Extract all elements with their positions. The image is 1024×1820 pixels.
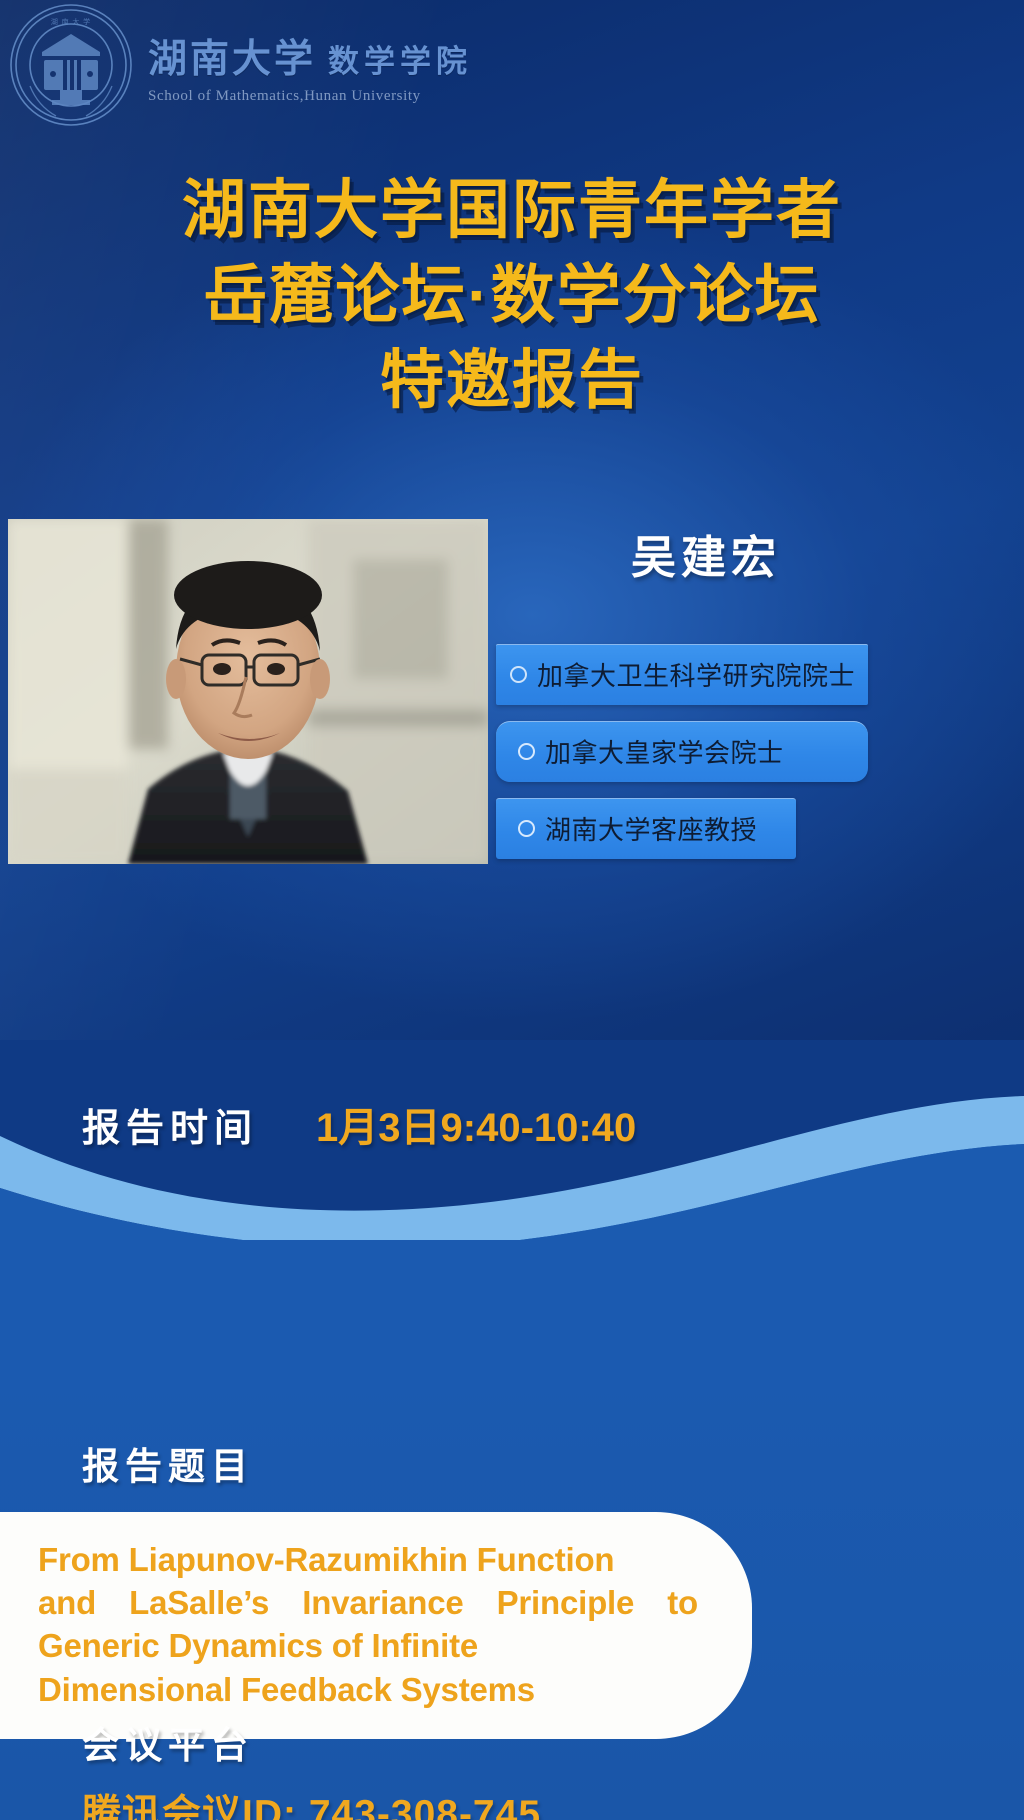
page-title: 湖南大学国际青年学者 岳麓论坛·数学分论坛 特邀报告 [0,168,1024,423]
report-title-word: and [38,1581,96,1624]
department-logo: 湖南大学数学学院 School of Mathematics,Hunan Uni… [148,28,468,105]
circle-bullet-icon [518,743,535,760]
credential-badge: 湖南大学客座教授 [496,798,796,859]
circle-bullet-icon [518,820,535,837]
credential-label: 加拿大皇家学会院士 [545,733,784,770]
svg-text:湖 南 大 学: 湖 南 大 学 [51,17,91,26]
hunan-university-crest-icon: 湖 南 大 学 [8,2,134,128]
page-title-line-1: 湖南大学国际青年学者 [0,168,1024,253]
speaker-photo [8,519,488,864]
logo-chinese-line: 湖南大学数学学院 [148,28,468,84]
report-title-line: Dimensional Feedback Systems [38,1668,656,1711]
logo-english-line: School of Mathematics,Hunan University [148,88,468,105]
credential-label: 加拿大卫生科学研究院院士 [537,656,855,693]
platform-meeting-id: 腾讯会议ID: 743-308-745 [82,1783,541,1820]
report-title-line: From Liapunov-Razumikhin Function [38,1538,656,1581]
logo-school-name: 数学学院 [328,44,472,79]
platform-label: 会议平台 [82,1715,254,1769]
speaker-credentials: 加拿大卫生科学研究院院士 加拿大皇家学会院士 湖南大学客座教授 [496,644,896,875]
report-title-word: to [667,1581,698,1624]
schedule-value: 1月3日9:40-10:40 [316,1095,636,1153]
credential-label: 湖南大学客座教授 [545,810,757,847]
schedule-label: 报告时间 [82,1097,258,1152]
report-title-line: and LaSalle’s Invariance Principle to [38,1581,698,1624]
page-title-line-2: 岳麓论坛·数学分论坛 [0,253,1024,338]
report-title-label: 报告题目 [82,1436,254,1490]
poster-root: 湖 南 大 学 湖南大学数学学院 School of Mathematics,H… [0,0,1024,1820]
credential-badge: 加拿大皇家学会院士 [496,721,868,782]
site-header: 湖 南 大 学 湖南大学数学学院 School of Mathematics,H… [0,0,1024,124]
credential-badge: 加拿大卫生科学研究院院士 [496,644,868,705]
report-title-line: Generic Dynamics of Infinite [38,1624,656,1667]
logo-university-name: 湖南大学 [148,38,316,81]
schedule-row: 报告时间 1月3日9:40-10:40 [82,1095,636,1153]
report-title-word: Principle [497,1581,635,1624]
speaker-name: 吴建宏 [556,521,856,586]
report-title-card: From Liapunov-Razumikhin Function and La… [0,1512,752,1739]
report-title-word: LaSalle’s [129,1581,269,1624]
report-title-word: Invariance [302,1581,463,1624]
page-title-line-3: 特邀报告 [0,338,1024,423]
circle-bullet-icon [510,666,527,683]
